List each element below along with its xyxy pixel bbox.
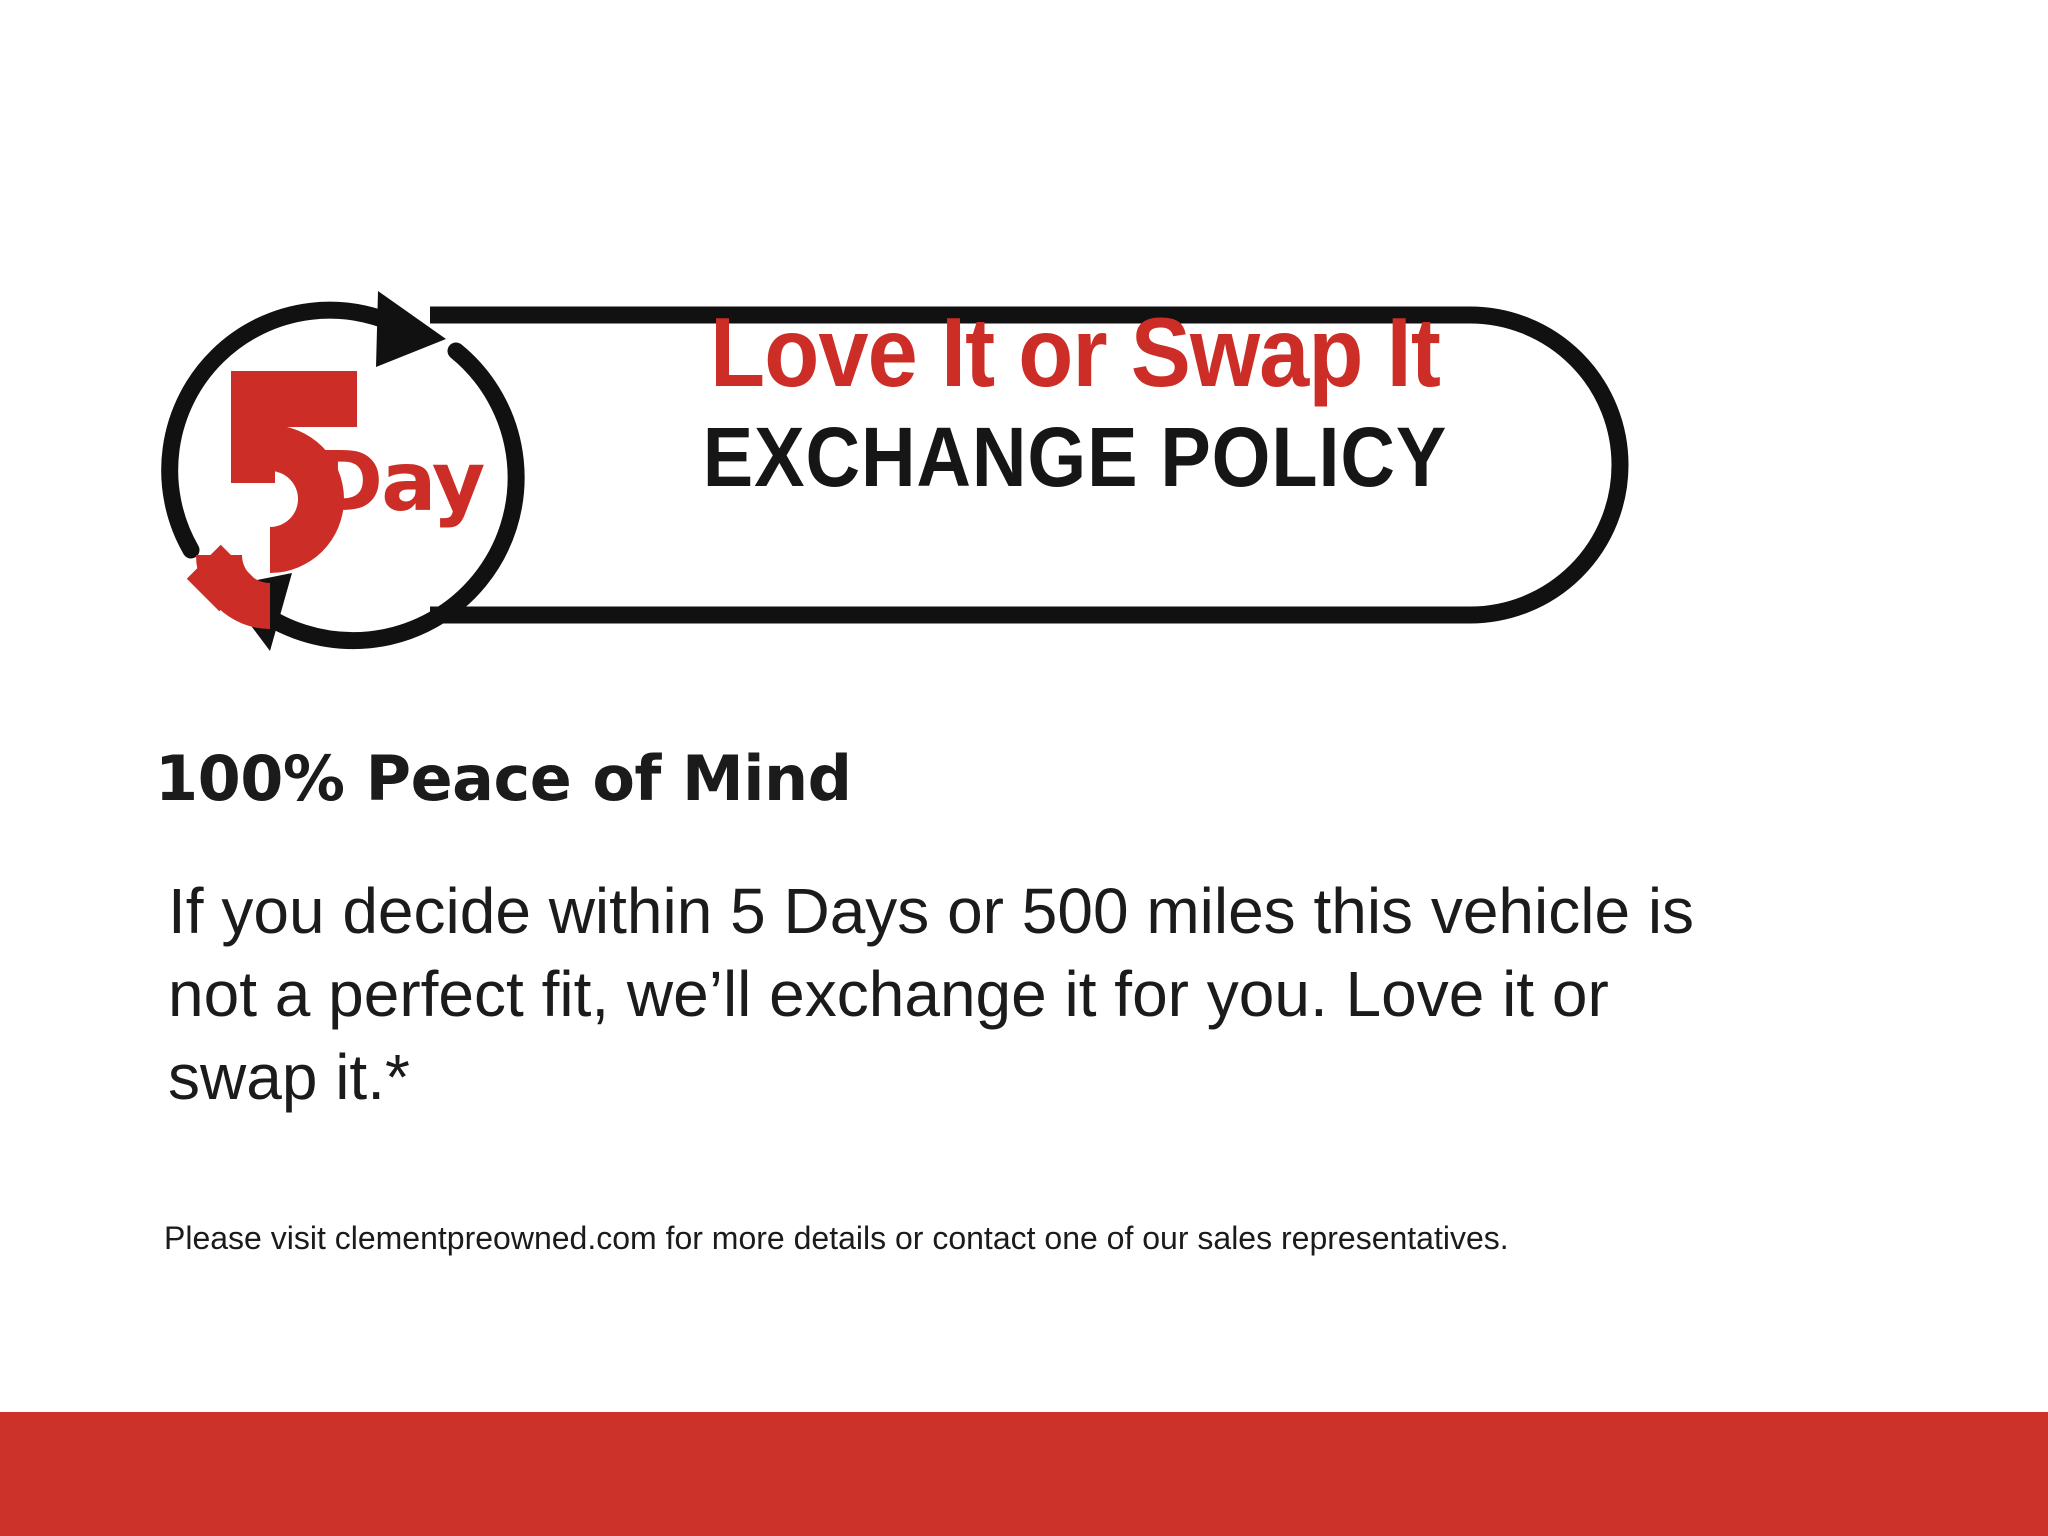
policy-description: If you decide within 5 Days or 500 miles… xyxy=(168,870,1768,1120)
badge-title: Love It or Swap It xyxy=(601,303,1549,401)
footer-accent-bar xyxy=(0,1412,2048,1536)
exchange-policy-badge: Day Love It or Swap It EXCHANGE POLICY xyxy=(130,255,1670,675)
day-label: Day xyxy=(315,442,483,524)
five-day-lockup: Day xyxy=(170,350,470,550)
slide-canvas: Day Love It or Swap It EXCHANGE POLICY 1… xyxy=(0,0,2048,1536)
page-headline: 100% Peace of Mind xyxy=(155,745,851,813)
fine-print-note: Please visit clementpreowned.com for mor… xyxy=(164,1218,1884,1260)
badge-text-block: Love It or Swap It EXCHANGE POLICY xyxy=(560,303,1590,501)
badge-subtitle: EXCHANGE POLICY xyxy=(612,413,1539,501)
